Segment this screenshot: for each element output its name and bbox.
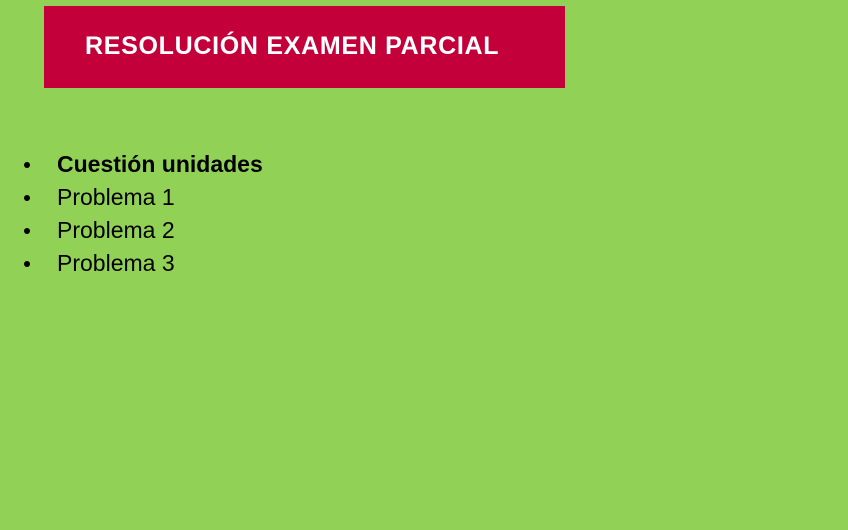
list-item-label: Problema 1	[57, 181, 175, 214]
bullet-list: Cuestión unidades Problema 1 Problema 2 …	[0, 148, 848, 280]
list-item-label: Cuestión unidades	[57, 148, 263, 181]
bullet-dot-icon	[24, 162, 30, 168]
list-item-label: Problema 3	[57, 247, 175, 280]
bullet-dot-icon	[24, 228, 30, 234]
bullet-dot-icon	[24, 195, 30, 201]
title-banner: RESOLUCIÓN EXAMEN PARCIAL	[44, 6, 565, 88]
list-item-label: Problema 2	[57, 214, 175, 247]
list-item: Problema 1	[0, 181, 848, 214]
page-title: RESOLUCIÓN EXAMEN PARCIAL	[85, 33, 499, 61]
list-item: Problema 3	[0, 247, 848, 280]
bullet-dot-icon	[24, 261, 30, 267]
list-item: Cuestión unidades	[0, 148, 848, 181]
list-item: Problema 2	[0, 214, 848, 247]
slide-canvas: RESOLUCIÓN EXAMEN PARCIAL Cuestión unida…	[0, 0, 848, 530]
